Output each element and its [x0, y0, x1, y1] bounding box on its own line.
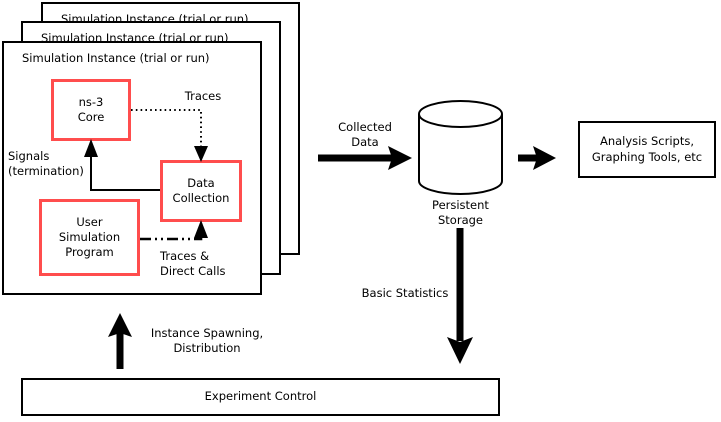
diagram-canvas: Simulation Instance (trial or run) Simul… — [0, 0, 721, 422]
traces-direct-calls-label: Traces & Direct Calls — [160, 249, 256, 279]
data-collection-box: Data Collection — [160, 160, 242, 222]
basic-statistics-label: Basic Statistics — [350, 286, 460, 301]
storage-to-analysis-arrow — [518, 146, 556, 170]
signals-label: Signals (termination) — [8, 149, 100, 179]
traces-label: Traces — [170, 89, 236, 104]
experiment-control-label: Experiment Control — [205, 389, 317, 405]
analysis-scripts-box: Analysis Scripts, Graphing Tools, etc — [578, 121, 716, 178]
analysis-scripts-label: Analysis Scripts, Graphing Tools, etc — [592, 134, 702, 165]
user-simulation-program-label: User Simulation Program — [59, 215, 120, 261]
collected-data-label: Collected Data — [322, 120, 408, 150]
simulation-instance-title-front: Simulation Instance (trial or run) — [22, 51, 210, 65]
experiment-control-box: Experiment Control — [21, 378, 500, 416]
ns3-core-label: ns-3 Core — [78, 95, 105, 125]
user-simulation-program-box: User Simulation Program — [39, 199, 140, 276]
instance-spawning-label: Instance Spawning, Distribution — [141, 326, 273, 356]
data-collection-label: Data Collection — [173, 176, 230, 206]
persistent-storage-label: Persistent Storage — [410, 198, 511, 228]
ns3-core-box: ns-3 Core — [51, 79, 131, 141]
instance-spawning-arrow — [108, 313, 132, 369]
